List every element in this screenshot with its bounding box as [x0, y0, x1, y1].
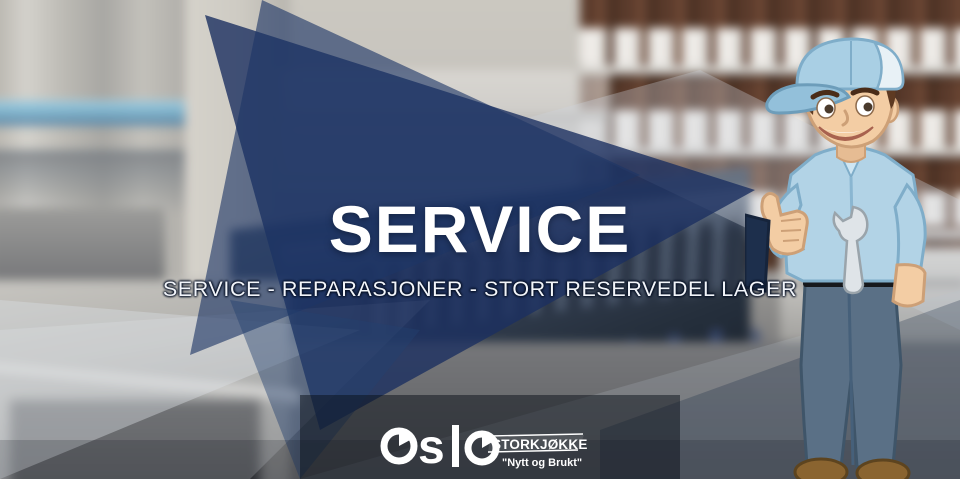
subtitle: SERVICE - REPARASJONER - STORT RESERVEDE…	[0, 277, 960, 302]
logo-letter-s: s	[418, 421, 445, 473]
service-banner: SERVICE SERVICE - REPARASJONER - STORT R…	[0, 0, 960, 479]
page-title: SERVICE	[0, 196, 960, 262]
logo-tagline: "Nytt og Brukt"	[502, 457, 582, 469]
company-logo[interactable]: s STORKJØKKEN AS "Nytt og Brukt"	[378, 417, 588, 473]
mascot-jeans	[801, 285, 901, 467]
logo-company-line: STORKJØKKEN AS	[492, 437, 588, 452]
logo-letter-o-first	[384, 431, 414, 461]
logo-letter-l	[452, 425, 459, 467]
